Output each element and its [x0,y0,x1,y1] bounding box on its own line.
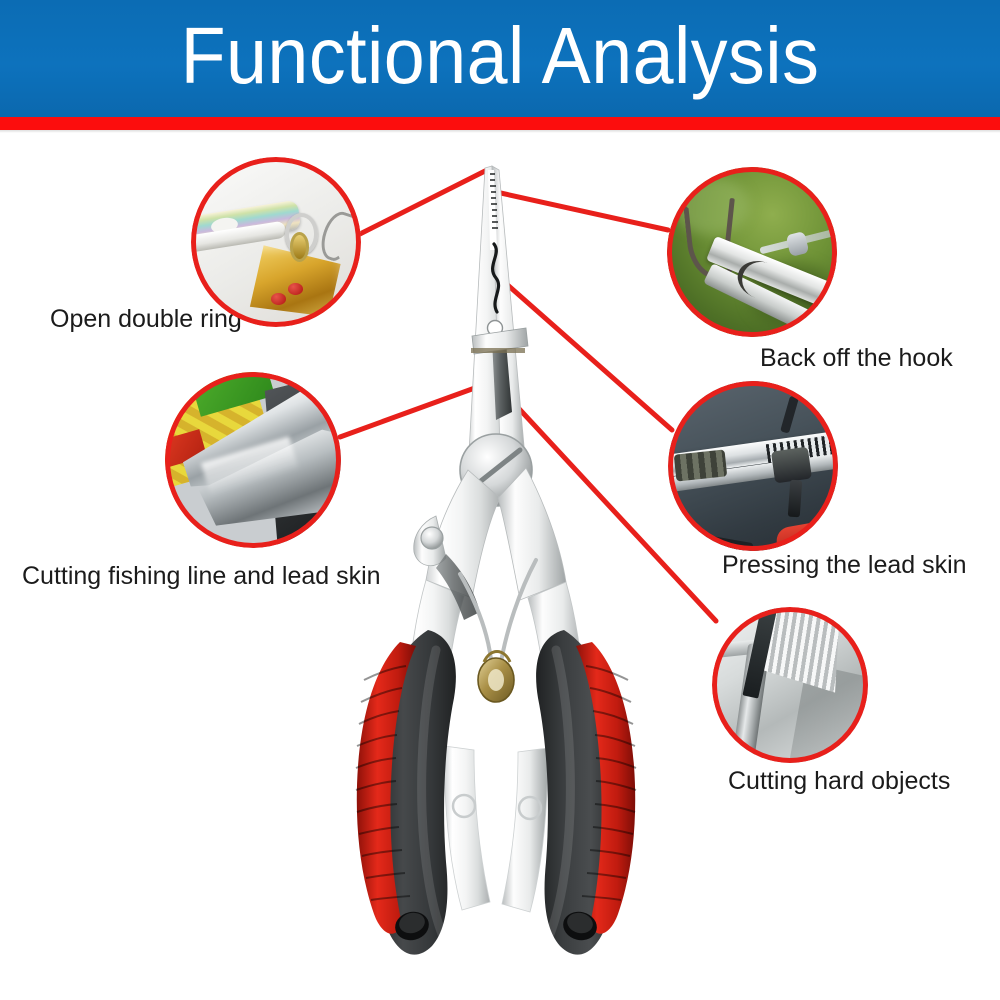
callout-label-cutting-hard-objects: Cutting hard objects [728,768,950,796]
infographic-page: Functional Analysis [0,0,1000,1000]
header-rule-shadow [0,130,1000,133]
pliers-handle-left [356,630,456,955]
callout-cutting-hard-objects[interactable] [712,607,868,763]
callout-pressing-the-lead-skin[interactable] [668,381,838,551]
callout-ring-border [667,167,837,337]
callout-cutting-fishing-line-and-lead-skin[interactable] [165,372,341,548]
callout-label-back-off-the-hook: Back off the hook [760,345,953,373]
callout-open-double-ring[interactable] [191,157,361,327]
callout-ring-border [712,607,868,763]
pliers-handle-right [536,630,636,955]
callout-ring-border [668,381,838,551]
pliers-split-ring-hub [478,652,514,703]
page-title: Functional Analysis [40,0,960,117]
callout-label-open-double-ring: Open double ring [50,306,242,334]
callout-label-pressing-the-lead-skin: Pressing the lead skin [722,552,967,580]
callout-label-cutting-fishing-line-and-lead-skin: Cutting fishing line and lead skin [22,563,381,591]
callout-ring-border [165,372,341,548]
callout-back-off-the-hook[interactable] [667,167,837,337]
header-red-rule [0,117,1000,130]
product-image-fishing-pliers [340,150,670,980]
callout-ring-border [191,157,361,327]
